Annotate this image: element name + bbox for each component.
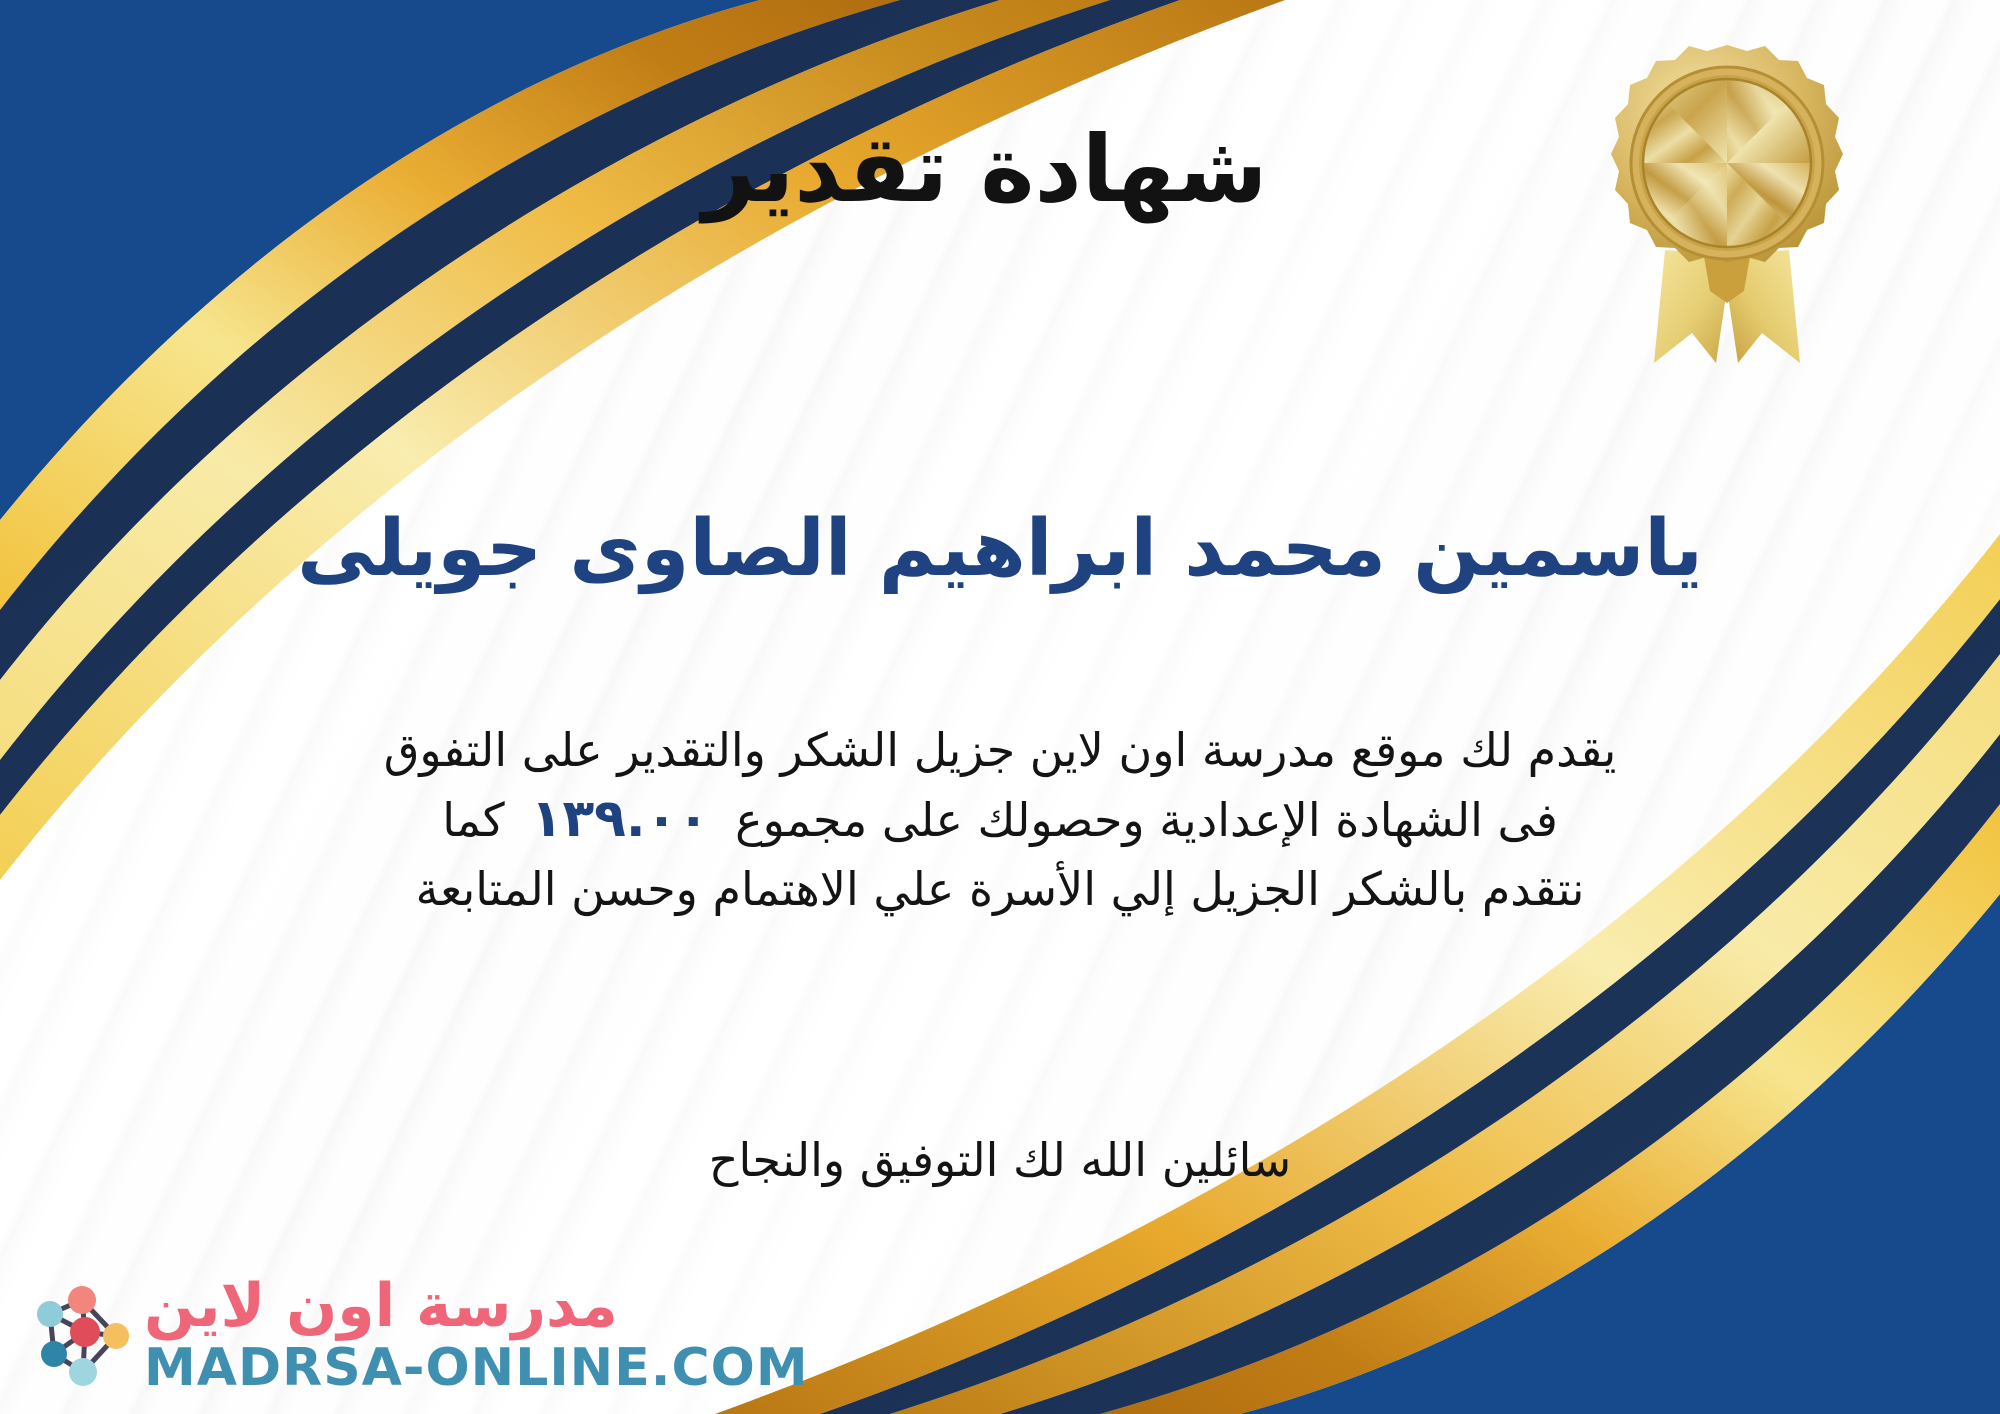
- gold-award-medal-icon: [1592, 45, 1862, 365]
- brand-arabic-name: مدرسة اون لاين: [144, 1276, 618, 1336]
- network-nodes-icon: [28, 1280, 136, 1390]
- certificate-body: يقدم لك موقع مدرسة اون لاين جزيل الشكر و…: [60, 718, 1940, 922]
- closing-wish-text: سائلين الله لك التوفيق والنجاح: [0, 1128, 2000, 1192]
- body-line-2-suffix: كما: [442, 793, 505, 847]
- body-line-3: نتقدم بالشكر الجزيل إلي الأسرة علي الاهت…: [60, 857, 1940, 922]
- recipient-name: ياسمين محمد ابراهيم الصاوى جويلى: [0, 505, 2000, 595]
- body-line-2: فى الشهادة الإعدادية وحصولك على مجموع١٣٩…: [60, 783, 1940, 857]
- body-line-2-prefix: فى الشهادة الإعدادية وحصولك على مجموع: [735, 793, 1558, 847]
- certificate-canvas: شهادة تقدير ياسمين محمد ابراهيم الصاوى ج…: [0, 0, 2000, 1414]
- brand-text-group: مدرسة اون لاين MADRSA-ONLINE.COM: [144, 1276, 809, 1394]
- grade-total-value: ١٣٩.٠٠: [505, 789, 735, 849]
- brand-website: MADRSA-ONLINE.COM: [144, 1342, 809, 1394]
- body-line-1: يقدم لك موقع مدرسة اون لاين جزيل الشكر و…: [60, 718, 1940, 783]
- brand-logo[interactable]: مدرسة اون لاين MADRSA-ONLINE.COM: [28, 1276, 809, 1394]
